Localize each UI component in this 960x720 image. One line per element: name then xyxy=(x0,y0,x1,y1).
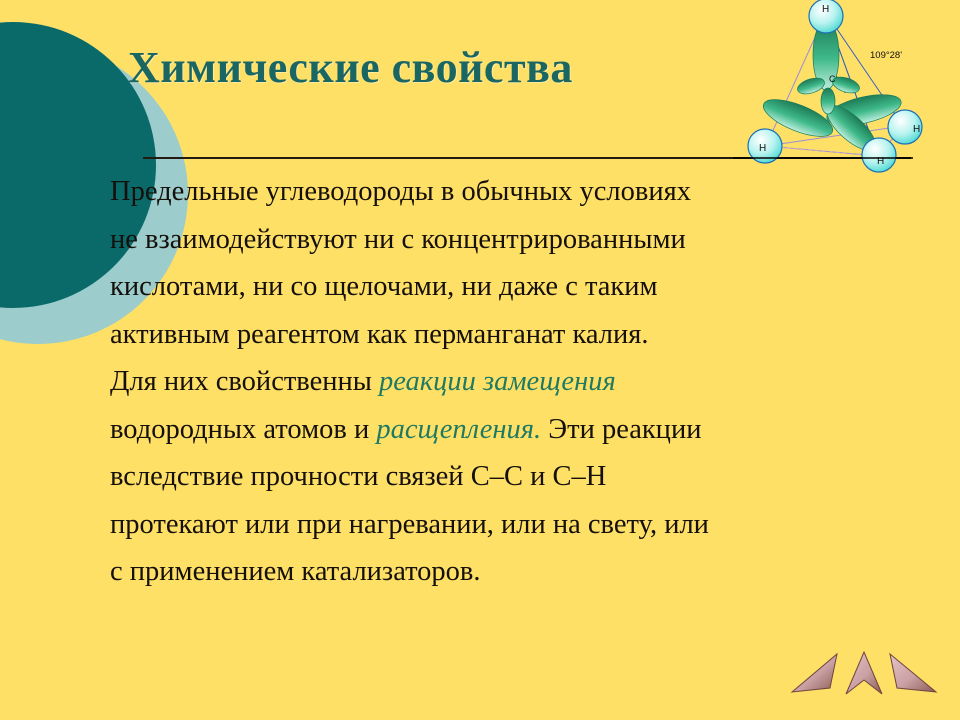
bond-angle-label: 109°28' xyxy=(870,50,902,61)
body-text-run: Эти реакции xyxy=(541,414,701,445)
body-text-run: Для них свойственны xyxy=(110,366,379,397)
page-title: Химические свойства xyxy=(128,42,573,93)
navigation-arrows-group[interactable] xyxy=(790,648,940,704)
body-text-line: протекают или при нагревании, или на све… xyxy=(110,501,930,549)
body-text-line: водородных атомов и расщепления. Эти реа… xyxy=(110,406,930,454)
body-text-run: с применением катализаторов. xyxy=(110,556,481,587)
body-text-block: Предельные углеводороды в обычных услови… xyxy=(110,168,930,596)
left-arrow-icon xyxy=(792,654,837,692)
hydrogen-label: H xyxy=(913,124,920,135)
body-text-line: не взаимодействуют ни с концентрированны… xyxy=(110,216,930,264)
body-text-run: не взаимодействуют ни с концентрированны… xyxy=(110,224,686,255)
slide-canvas: Химические свойства Предельные углеводор… xyxy=(0,0,960,720)
body-text-run: вследствие прочности связей С–С и С–Н xyxy=(110,461,606,492)
body-text-line: с применением катализаторов. xyxy=(110,548,930,596)
emphasis-term: реакции замещения xyxy=(379,366,616,397)
body-text-run: водородных атомов и xyxy=(110,414,376,445)
body-text-run: протекают или при нагревании, или на све… xyxy=(110,509,709,540)
body-text-line: Для них свойственны реакции замещения xyxy=(110,358,930,406)
hydrogen-label: H xyxy=(822,4,829,15)
body-text-run: активным реагентом как перманганат калия… xyxy=(110,319,649,350)
body-text-run: кислотами, ни со щелочами, ни даже с так… xyxy=(110,271,658,302)
hydrogen-label: H xyxy=(759,143,766,154)
body-text-line: вследствие прочности связей С–С и С–Н xyxy=(110,453,930,501)
up-arrow-icon xyxy=(846,652,882,694)
carbon-label: C xyxy=(829,74,836,84)
right-arrow-icon xyxy=(890,654,936,692)
body-text-line: Предельные углеводороды в обычных услови… xyxy=(110,168,930,216)
body-text-run: Предельные углеводороды в обычных услови… xyxy=(110,176,691,207)
body-text-line: кислотами, ни со щелочами, ни даже с так… xyxy=(110,263,930,311)
emphasis-term: расщепления. xyxy=(376,414,541,445)
body-text-line: активным реагентом как перманганат калия… xyxy=(110,311,930,359)
methane-molecule-diagram: H H H H C 109°28' xyxy=(733,0,960,175)
